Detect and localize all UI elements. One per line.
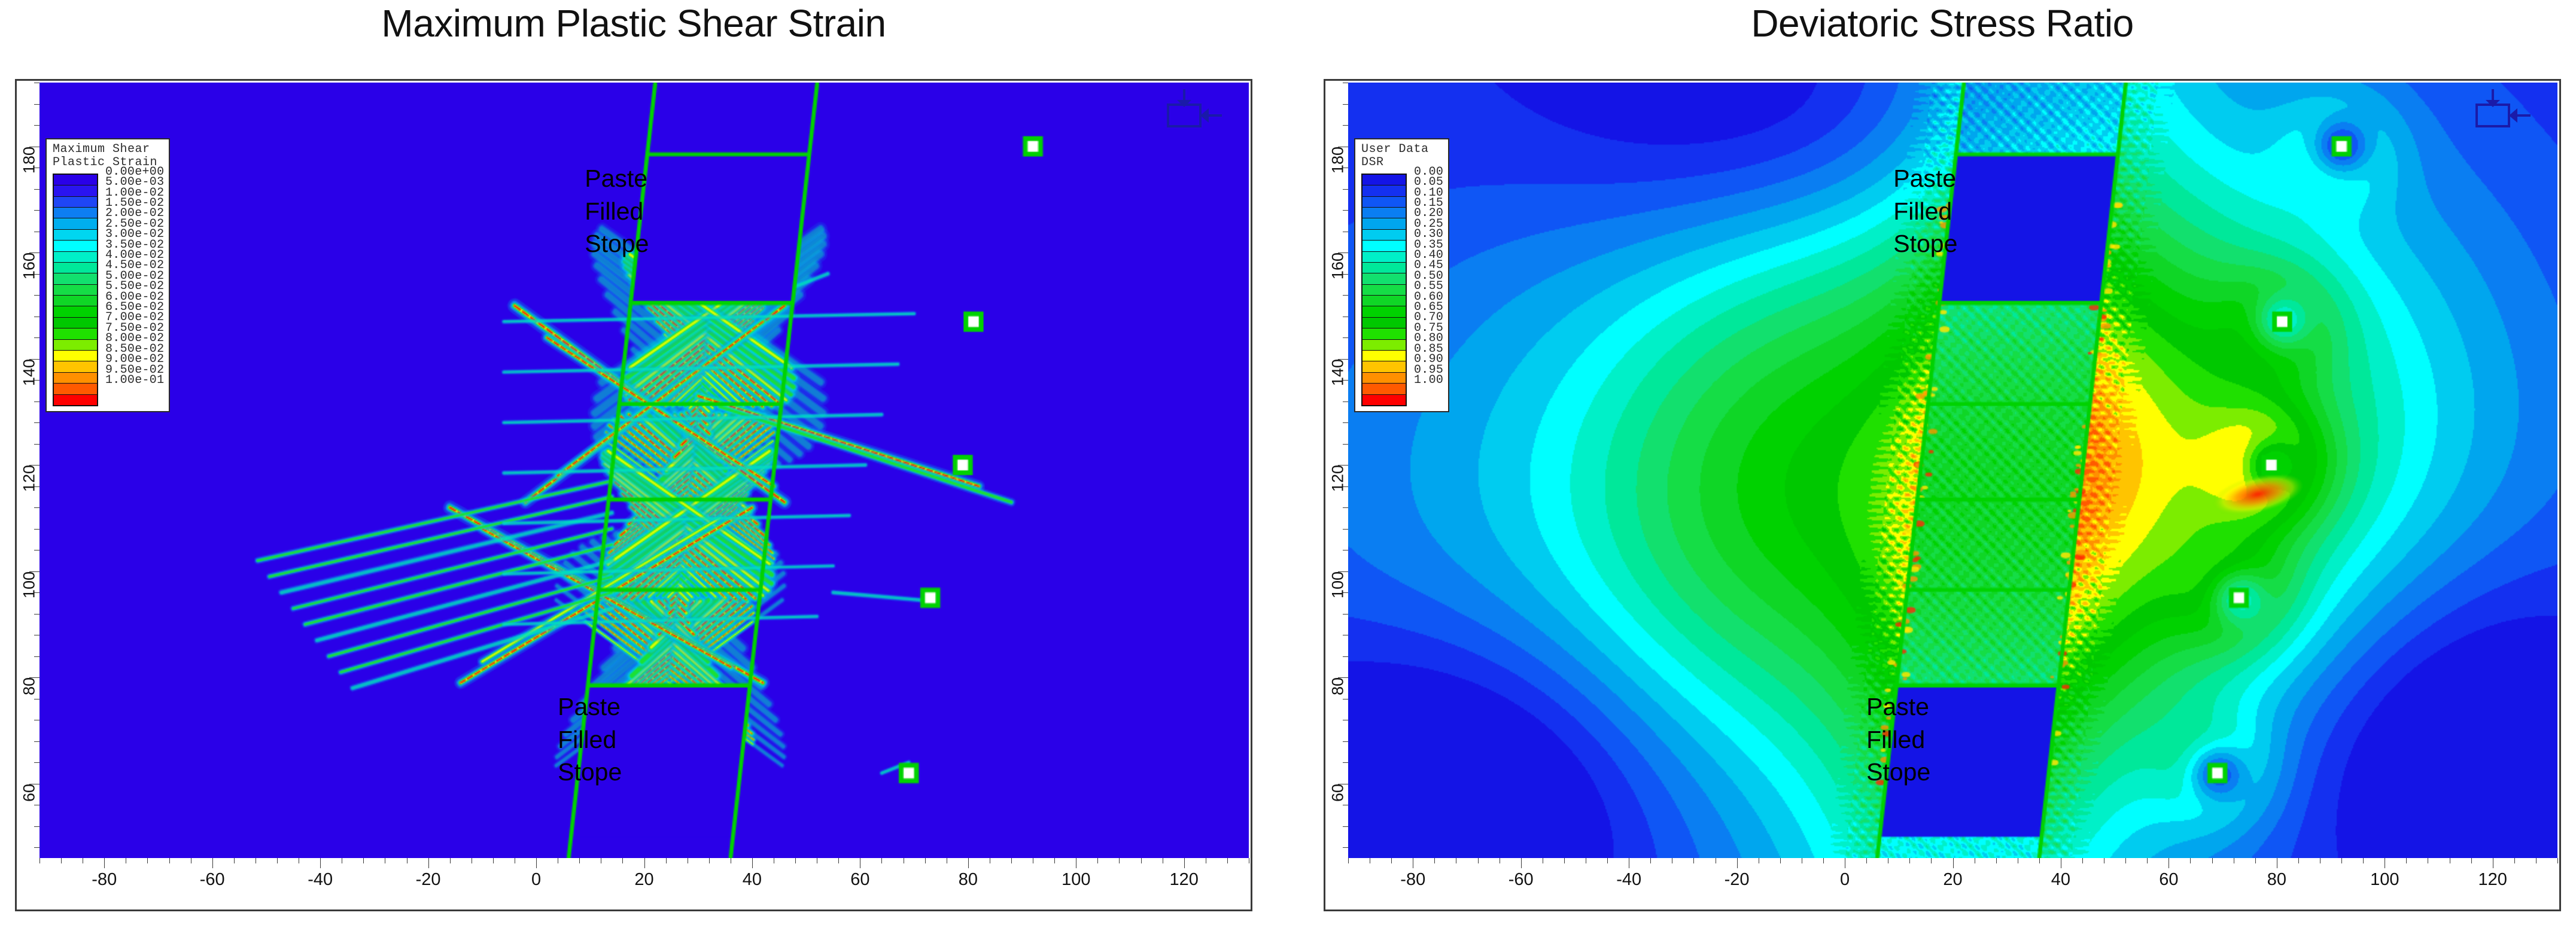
y-axis-tick <box>1343 295 1348 296</box>
x-axis-tick <box>1011 858 1012 863</box>
x-axis-tick <box>126 858 126 863</box>
legend-value: 1.00e-01 <box>105 375 164 385</box>
boundary-condition-icon <box>2466 88 2532 133</box>
y-axis-tick <box>1343 337 1348 338</box>
legend-swatch <box>54 175 97 185</box>
y-axis-tick <box>34 104 39 105</box>
x-axis-tick <box>2082 858 2083 863</box>
x-axis-tick <box>1650 858 1651 863</box>
x-axis-tick <box>795 858 796 863</box>
x-axis-tick <box>407 858 407 863</box>
x-axis-tick <box>472 858 472 863</box>
y-axis-tick <box>34 317 39 317</box>
legend-swatch <box>54 328 97 339</box>
x-axis-tick <box>579 858 580 863</box>
legend-swatch <box>1362 318 1406 328</box>
x-axis-label: -60 <box>200 870 225 890</box>
x-axis-tick <box>1141 858 1142 863</box>
legend-values-right: 0.000.050.100.150.200.250.300.350.400.45… <box>1414 167 1443 386</box>
legend-swatch <box>54 306 97 317</box>
x-axis-tick <box>1348 858 1349 863</box>
y-axis-tick <box>1343 805 1348 805</box>
x-axis-tick <box>450 858 451 863</box>
x-axis-tick <box>2039 858 2040 863</box>
y-axis-tick <box>1343 826 1348 827</box>
contour-plot-right <box>1348 83 2557 858</box>
y-axis-tick <box>34 337 39 338</box>
y-axis-tick <box>1343 125 1348 126</box>
x-axis-tick <box>1586 858 1586 863</box>
x-axis-tick <box>515 858 515 863</box>
x-axis-tick <box>61 858 62 863</box>
y-axis-tick <box>34 699 39 699</box>
y-axis-tick <box>34 401 39 402</box>
x-axis-label: 80 <box>959 870 978 890</box>
x-axis-tick <box>1737 858 1738 868</box>
x-axis-tick <box>990 858 990 863</box>
x-axis-tick <box>342 858 342 863</box>
x-axis-label: 120 <box>1170 870 1199 890</box>
x-axis-tick <box>1391 858 1392 863</box>
y-axis-label: 120 <box>20 465 39 492</box>
x-axis-tick <box>1119 858 1120 863</box>
y-axis-tick <box>1343 232 1348 232</box>
legend-swatch <box>1362 263 1406 273</box>
x-axis-label: 0 <box>531 870 541 890</box>
y-axis-tick <box>1343 189 1348 190</box>
x-axis-tick <box>752 858 753 868</box>
y-axis-tick <box>34 232 39 232</box>
legend-value: 1.00 <box>1414 375 1443 385</box>
y-axis-label: 160 <box>20 253 39 279</box>
y-axis-tick <box>34 762 39 763</box>
x-axis-tick <box>2190 858 2191 863</box>
legend-swatch <box>54 340 97 351</box>
x-axis-tick <box>104 858 105 868</box>
x-axis-tick <box>1184 858 1185 868</box>
y-axis-tick <box>1343 550 1348 550</box>
x-axis-label: 20 <box>1943 870 1962 890</box>
x-axis-tick <box>256 858 256 863</box>
x-axis-label: 120 <box>2478 870 2507 890</box>
y-axis-tick <box>34 847 39 848</box>
y-axis-tick <box>1343 847 1348 848</box>
x-axis-tick <box>1163 858 1163 863</box>
x-axis-tick <box>688 858 688 863</box>
legend-swatch <box>1362 351 1406 361</box>
y-axis-tick <box>1343 210 1348 211</box>
x-axis-tick <box>2125 858 2126 863</box>
legend-swatch <box>1362 361 1406 372</box>
legend-swatch <box>1362 175 1406 185</box>
x-axis-label: -40 <box>308 870 333 890</box>
legend-swatches-left <box>53 174 98 406</box>
y-axis-tick <box>34 656 39 657</box>
x-axis-tick <box>2557 858 2558 863</box>
y-axis-label: 100 <box>1329 571 1348 598</box>
legend-swatch <box>54 296 97 306</box>
legend-left: Maximum Shear Plastic Strain 0.00e+005.0… <box>45 138 170 412</box>
x-axis-label: 20 <box>634 870 653 890</box>
x-axis-tick <box>39 858 40 863</box>
contour-plot-left <box>39 83 1249 858</box>
x-axis-tick <box>2320 858 2320 863</box>
y-axis-tick <box>34 83 39 83</box>
x-axis-tick <box>2298 858 2299 863</box>
y-axis-tick <box>34 444 39 445</box>
x-axis-label: 100 <box>2370 870 2399 890</box>
y-axis-tick <box>1343 317 1348 317</box>
x-axis-tick <box>2169 858 2169 868</box>
x-axis-tick <box>2018 858 2018 863</box>
x-axis-tick <box>644 858 645 868</box>
x-axis-tick <box>191 858 191 863</box>
y-axis-tick <box>34 550 39 550</box>
y-axis-label: 100 <box>20 571 39 598</box>
x-axis-tick <box>2428 858 2428 863</box>
x-axis-tick <box>947 858 947 863</box>
x-axis-label: 60 <box>850 870 869 890</box>
x-axis-tick <box>774 858 774 863</box>
x-axis-tick <box>1249 858 1249 863</box>
x-axis-tick <box>212 858 213 868</box>
x-axis-tick <box>1672 858 1672 863</box>
y-axis-label: 140 <box>20 359 39 386</box>
x-axis-tick <box>1227 858 1228 863</box>
x-axis-tick <box>2277 858 2277 868</box>
x-axis-left: -80-60-40-20020406080100120 <box>39 858 1249 910</box>
x-axis-tick <box>1607 858 1608 863</box>
x-axis-tick <box>1456 858 1456 863</box>
legend-swatch <box>54 318 97 328</box>
legend-title-left-line1: Maximum Shear <box>53 143 164 156</box>
legend-swatch <box>1362 384 1406 394</box>
x-axis-tick <box>299 858 299 863</box>
y-axis-tick <box>34 741 39 742</box>
x-axis-tick <box>1909 858 1910 863</box>
x-axis-label: -20 <box>416 870 441 890</box>
x-axis-tick <box>1996 858 1997 863</box>
y-axis-label: 60 <box>1329 784 1348 802</box>
legend-swatch <box>54 218 97 229</box>
x-axis-tick <box>666 858 667 863</box>
x-axis-tick <box>1780 858 1781 863</box>
legend-title-right-line1: User Data <box>1361 143 1443 156</box>
boundary-condition-icon <box>1157 88 1223 133</box>
y-axis-tick <box>1343 699 1348 699</box>
y-axis-label: 180 <box>1329 147 1348 174</box>
legend-swatch <box>1362 197 1406 208</box>
legend-values-left: 0.00e+005.00e-031.00e-021.50e-022.00e-02… <box>105 167 164 386</box>
x-axis-tick <box>147 858 148 863</box>
x-axis-tick <box>1975 858 1975 863</box>
y-axis-tick <box>34 720 39 720</box>
x-axis-tick <box>1097 858 1098 863</box>
x-axis-tick <box>2212 858 2213 863</box>
y-axis-tick <box>1343 656 1348 657</box>
x-axis-tick <box>2493 858 2493 868</box>
legend-swatch <box>54 395 97 405</box>
panel-deviatoric-stress-ratio: Deviatoric Stress Ratio 6080100120140160… <box>1309 0 2576 946</box>
x-axis-tick <box>2536 858 2537 863</box>
x-axis-label: 100 <box>1062 870 1090 890</box>
legend-swatch <box>1362 373 1406 384</box>
x-axis-tick <box>2341 858 2342 863</box>
legend-swatch <box>1362 218 1406 229</box>
y-axis-tick <box>1343 741 1348 742</box>
x-axis-label: 40 <box>743 870 762 890</box>
x-axis-tick <box>1953 858 1954 868</box>
x-axis-tick <box>1478 858 1479 863</box>
x-axis-tick <box>536 858 537 868</box>
y-axis-left: 6080100120140160180 <box>19 83 39 858</box>
y-axis-label: 160 <box>1329 253 1348 279</box>
legend-swatch <box>54 351 97 361</box>
x-axis-label: -20 <box>1725 870 1750 890</box>
y-axis-tick <box>34 635 39 635</box>
x-axis-tick <box>169 858 170 863</box>
x-axis-tick <box>2450 858 2450 863</box>
legend-swatch <box>1362 241 1406 251</box>
x-axis-tick <box>1543 858 1543 863</box>
y-axis-tick <box>1343 83 1348 83</box>
plot-frame-right: 6080100120140160180 Paste Filled Stope P… <box>1324 79 2561 911</box>
x-axis-label: -40 <box>1616 870 1641 890</box>
legend-swatch <box>1362 395 1406 405</box>
legend-swatch <box>54 252 97 263</box>
y-axis-right: 6080100120140160180 <box>1327 83 1348 858</box>
legend-swatch <box>54 197 97 208</box>
x-axis-label: 80 <box>2267 870 2286 890</box>
x-axis-tick <box>904 858 904 863</box>
x-axis-tick <box>2234 858 2234 863</box>
x-axis-tick <box>2514 858 2515 863</box>
legend-swatch <box>1362 306 1406 317</box>
y-axis-label: 140 <box>1329 359 1348 386</box>
x-axis-tick <box>1888 858 1888 863</box>
legend-swatch <box>54 185 97 196</box>
legend-swatch <box>1362 285 1406 296</box>
legend-swatch <box>1362 340 1406 351</box>
x-axis-tick <box>1521 858 1522 868</box>
x-axis-tick <box>1054 858 1055 863</box>
y-axis-tick <box>34 422 39 423</box>
legend-swatch <box>1362 185 1406 196</box>
x-axis-tick <box>1823 858 1824 863</box>
y-axis-label: 60 <box>20 784 39 802</box>
x-axis-tick <box>925 858 926 863</box>
legend-swatch <box>54 208 97 218</box>
x-axis-tick <box>622 858 623 863</box>
legend-right: User Data DSR 0.000.050.100.150.200.250.… <box>1354 138 1449 412</box>
x-axis-tick <box>709 858 710 863</box>
x-axis-label: -80 <box>92 870 117 890</box>
y-axis-label: 80 <box>20 677 39 695</box>
x-axis-tick <box>277 858 278 863</box>
x-axis-tick <box>1629 858 1629 868</box>
x-axis-tick <box>2255 858 2256 863</box>
x-axis-tick <box>493 858 494 863</box>
legend-swatch <box>54 285 97 296</box>
y-axis-tick <box>1343 422 1348 423</box>
contour-canvas-wrap-left: Paste Filled Stope Paste Filled Stope Ma… <box>39 83 1249 858</box>
legend-swatch <box>1362 296 1406 306</box>
contour-canvas-wrap-right: Paste Filled Stope Paste Filled Stope Us… <box>1348 83 2557 858</box>
x-axis-tick <box>2061 858 2061 868</box>
x-axis-tick <box>1931 858 1932 863</box>
y-axis-tick <box>1343 529 1348 530</box>
legend-swatch <box>54 263 97 273</box>
x-axis-label: 0 <box>1840 870 1850 890</box>
y-axis-tick <box>34 826 39 827</box>
x-axis-tick <box>2406 858 2407 863</box>
y-axis-tick <box>34 210 39 211</box>
y-axis-label: 120 <box>1329 465 1348 492</box>
panel-maximum-plastic-shear-strain: Maximum Plastic Shear Strain 60801001201… <box>0 0 1267 946</box>
x-axis-tick <box>881 858 882 863</box>
x-axis-tick <box>1693 858 1694 863</box>
y-axis-tick <box>34 614 39 615</box>
legend-swatches-right <box>1361 174 1407 406</box>
x-axis-tick <box>363 858 364 863</box>
x-axis-tick <box>2471 858 2472 863</box>
x-axis-tick <box>2363 858 2364 863</box>
x-axis-tick <box>731 858 731 863</box>
y-axis-tick <box>34 805 39 805</box>
y-axis-label: 80 <box>1329 677 1348 695</box>
y-axis-tick <box>34 125 39 126</box>
x-axis-tick <box>2385 858 2385 868</box>
legend-swatch <box>1362 328 1406 339</box>
legend-swatch <box>54 273 97 284</box>
x-axis-tick <box>1076 858 1076 868</box>
x-axis-tick <box>385 858 385 863</box>
x-axis-label: 40 <box>2051 870 2070 890</box>
x-axis-tick <box>968 858 969 868</box>
x-axis-tick <box>83 858 83 863</box>
x-axis-tick <box>1802 858 1802 863</box>
y-axis-tick <box>1343 401 1348 402</box>
x-axis-tick <box>320 858 321 868</box>
x-axis-tick <box>234 858 235 863</box>
legend-swatch <box>54 373 97 384</box>
y-axis-tick <box>34 529 39 530</box>
x-axis-tick <box>2147 858 2148 863</box>
legend-swatch <box>1362 208 1406 218</box>
x-axis-tick <box>1866 858 1867 863</box>
y-axis-tick <box>1343 614 1348 615</box>
page-title-left: Maximum Plastic Shear Strain <box>0 1 1267 45</box>
legend-swatch <box>1362 252 1406 263</box>
x-axis-label: -60 <box>1509 870 1534 890</box>
x-axis-tick <box>2104 858 2104 863</box>
x-axis-tick <box>1413 858 1413 868</box>
y-axis-tick <box>1343 720 1348 720</box>
x-axis-tick <box>428 858 429 868</box>
y-axis-tick <box>1343 104 1348 105</box>
x-axis-tick <box>1206 858 1206 863</box>
legend-swatch <box>54 241 97 251</box>
plot-frame-left: 6080100120140160180 Paste Filled Stope P… <box>15 79 1252 911</box>
legend-swatch <box>1362 273 1406 284</box>
legend-swatch <box>54 230 97 241</box>
x-axis-tick <box>1370 858 1370 863</box>
x-axis-tick <box>1759 858 1759 863</box>
x-axis-tick <box>1564 858 1565 863</box>
y-axis-tick <box>34 507 39 508</box>
x-axis-tick <box>1845 858 1845 868</box>
x-axis-right: -80-60-40-20020406080100120 <box>1348 858 2557 910</box>
x-axis-label: 60 <box>2159 870 2178 890</box>
x-axis-tick <box>860 858 860 868</box>
x-axis-tick <box>838 858 839 863</box>
x-axis-tick <box>601 858 601 863</box>
x-axis-tick <box>817 858 817 863</box>
x-axis-tick <box>1716 858 1716 863</box>
y-axis-tick <box>34 295 39 296</box>
legend-swatch <box>1362 230 1406 241</box>
y-axis-tick <box>1343 444 1348 445</box>
y-axis-tick <box>1343 507 1348 508</box>
legend-swatch <box>54 384 97 394</box>
legend-swatch <box>54 361 97 372</box>
y-axis-label: 180 <box>20 147 39 174</box>
x-axis-tick <box>1033 858 1033 863</box>
y-axis-tick <box>1343 635 1348 635</box>
y-axis-tick <box>34 189 39 190</box>
x-axis-label: -80 <box>1400 870 1425 890</box>
x-axis-tick <box>1434 858 1435 863</box>
page-title-right: Deviatoric Stress Ratio <box>1309 1 2576 45</box>
x-axis-tick <box>1500 858 1500 863</box>
x-axis-tick <box>558 858 558 863</box>
y-axis-tick <box>1343 762 1348 763</box>
